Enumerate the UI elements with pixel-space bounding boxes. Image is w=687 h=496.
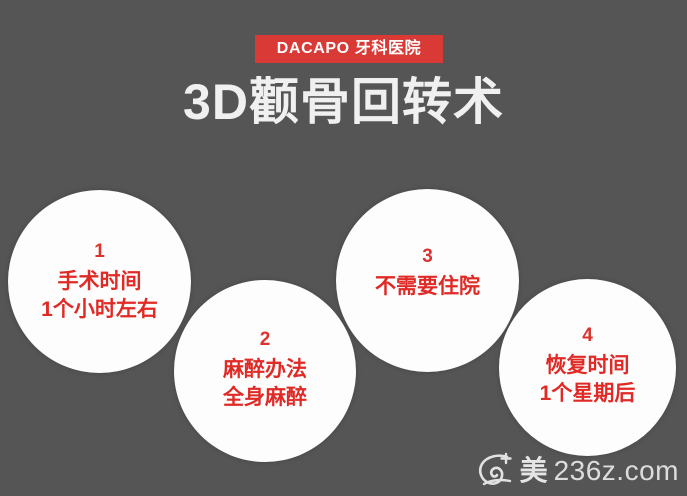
bubble-2-line-2: 全身麻醉: [223, 384, 307, 412]
bubble-1-line-1: 手术时间: [41, 268, 158, 296]
bubble-1-content: 1 手术时间 1个小时左右: [41, 242, 158, 325]
bubble-1-number: 1: [41, 242, 158, 263]
page-title: 3D颧骨回转术: [0, 76, 687, 129]
watermark-brand-cjk: 美: [520, 457, 548, 485]
info-bubble-1: 1 手术时间 1个小时左右: [8, 190, 191, 373]
bubble-1-line-2: 1个小时左右: [41, 296, 158, 324]
watermark-logo: 美: [477, 450, 548, 490]
info-bubble-4: 4 恢复时间 1个星期后: [499, 279, 676, 456]
slide-canvas: DACAPO 牙科医院 3D颧骨回转术 1 手术时间 1个小时左右 2 麻醉办法…: [0, 0, 687, 496]
bubble-3-number: 3: [375, 247, 480, 268]
brand-badge: DACAPO 牙科医院: [255, 35, 443, 63]
info-bubble-2: 2 麻醉办法 全身麻醉: [174, 280, 356, 462]
bubble-4-line-2: 1个星期后: [540, 380, 636, 408]
info-bubble-3: 3 不需要住院: [336, 189, 519, 372]
leaf-plus-logo-icon: [477, 450, 519, 490]
watermark-domain: 236z.com: [554, 457, 679, 485]
bubble-4-number: 4: [540, 326, 636, 347]
brand-badge-label: DACAPO 牙科医院: [277, 41, 421, 57]
bubble-2-line-1: 麻醉办法: [223, 356, 307, 384]
bubble-2-content: 2 麻醉办法 全身麻醉: [223, 330, 307, 413]
bubble-2-number: 2: [223, 330, 307, 351]
bubble-3-line-1: 不需要住院: [375, 273, 480, 301]
bubble-4-content: 4 恢复时间 1个星期后: [540, 326, 636, 409]
bubble-4-line-1: 恢复时间: [540, 352, 636, 380]
bubble-3-content: 3 不需要住院: [375, 247, 480, 301]
watermark: 美 236z.com: [477, 450, 679, 490]
